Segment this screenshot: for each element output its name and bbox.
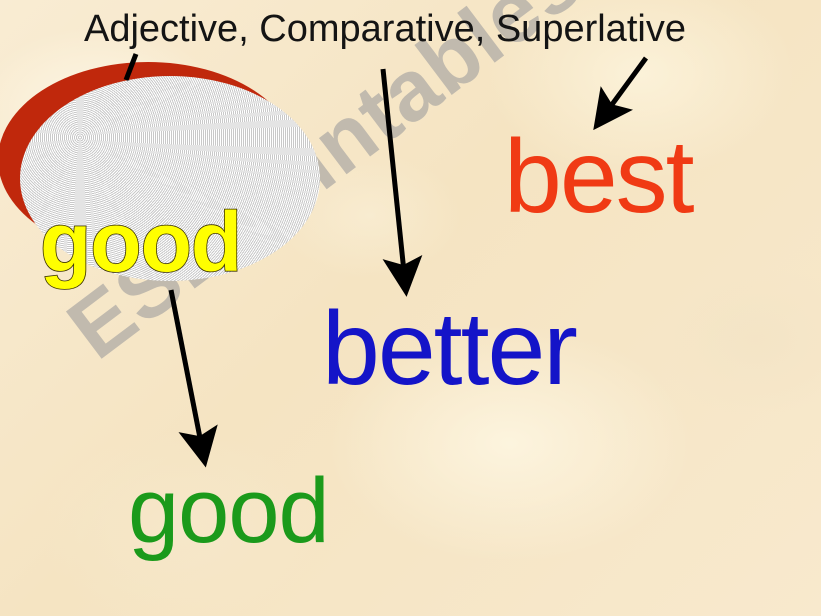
word-adjective-good: good	[128, 459, 329, 564]
slide-canvas: ESL printables.com Adjective, Comparativ…	[0, 0, 821, 616]
ellipse-word-label: good	[40, 194, 241, 291]
arrow-title-to-best	[608, 58, 646, 110]
arrow-title-to-better	[383, 69, 404, 272]
arrow-ellipse-to-good	[171, 290, 201, 443]
page-title: Adjective, Comparative, Superlative	[84, 8, 686, 51]
word-comparative-better: better	[322, 290, 576, 409]
ellipse-callout: good	[0, 62, 338, 292]
word-superlative-best: best	[504, 118, 693, 237]
